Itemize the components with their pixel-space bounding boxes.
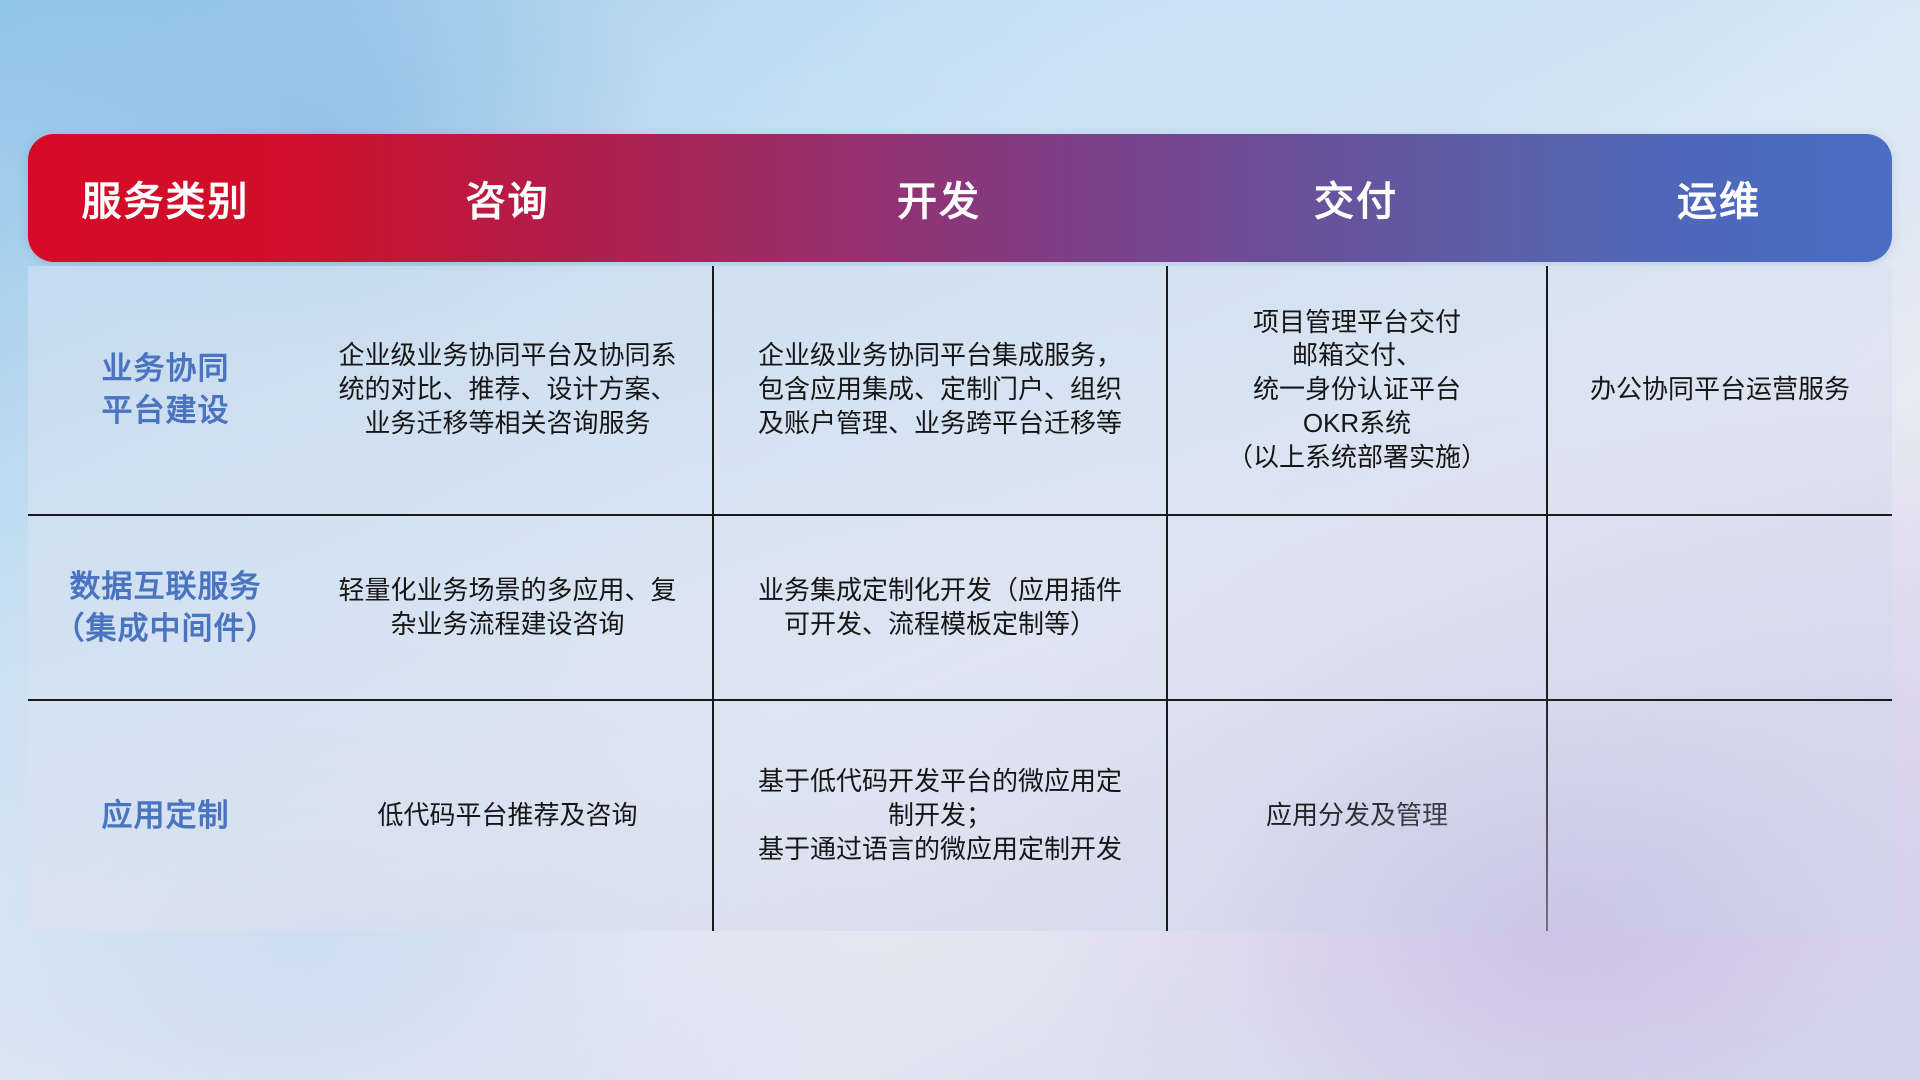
cell-operations: 办公协同平台运营服务 xyxy=(1546,266,1892,514)
cell-delivery: 应用分发及管理 xyxy=(1166,701,1546,931)
cell-development: 业务集成定制化开发（应用插件 可开发、流程模板定制等） xyxy=(712,516,1166,699)
cell-operations xyxy=(1546,701,1892,931)
row-category-label: 数据互联服务 （集成中间件） xyxy=(28,516,303,699)
column-header-consulting: 咨询 xyxy=(303,169,712,227)
table-row: 应用定制 低代码平台推荐及咨询 基于低代码开发平台的微应用定 制开发； 基于通过… xyxy=(28,699,1892,931)
table-header-row: 服务类别 咨询 开发 交付 运维 xyxy=(28,134,1892,262)
cell-consulting: 企业级业务协同平台及协同系 统的对比、推荐、设计方案、 业务迁移等相关咨询服务 xyxy=(303,266,712,514)
cell-delivery xyxy=(1166,516,1546,699)
column-header-development: 开发 xyxy=(712,169,1166,227)
table-body: 业务协同 平台建设 企业级业务协同平台及协同系 统的对比、推荐、设计方案、 业务… xyxy=(28,266,1892,931)
slide-canvas: 服务类别 咨询 开发 交付 运维 业务协同 平台建设 企业级业务协同平台及协同系… xyxy=(0,0,1920,1080)
table-row: 业务协同 平台建设 企业级业务协同平台及协同系 统的对比、推荐、设计方案、 业务… xyxy=(28,266,1892,514)
column-header-delivery: 交付 xyxy=(1166,169,1546,227)
row-category-label: 应用定制 xyxy=(28,701,303,931)
cell-development: 基于低代码开发平台的微应用定 制开发； 基于通过语言的微应用定制开发 xyxy=(712,701,1166,931)
row-category-label: 业务协同 平台建设 xyxy=(28,266,303,514)
table-row: 数据互联服务 （集成中间件） 轻量化业务场景的多应用、复 杂业务流程建设咨询 业… xyxy=(28,514,1892,699)
cell-consulting: 低代码平台推荐及咨询 xyxy=(303,701,712,931)
cell-delivery: 项目管理平台交付 邮箱交付、 统一身份认证平台 OKR系统 （以上系统部署实施） xyxy=(1166,266,1546,514)
cell-consulting: 轻量化业务场景的多应用、复 杂业务流程建设咨询 xyxy=(303,516,712,699)
cell-operations xyxy=(1546,516,1892,699)
column-header-operations: 运维 xyxy=(1546,169,1892,227)
service-matrix-table: 服务类别 咨询 开发 交付 运维 业务协同 平台建设 企业级业务协同平台及协同系… xyxy=(28,134,1892,931)
column-header-service-category: 服务类别 xyxy=(28,169,303,227)
cell-development: 企业级业务协同平台集成服务， 包含应用集成、定制门户、组织 及账户管理、业务跨平… xyxy=(712,266,1166,514)
